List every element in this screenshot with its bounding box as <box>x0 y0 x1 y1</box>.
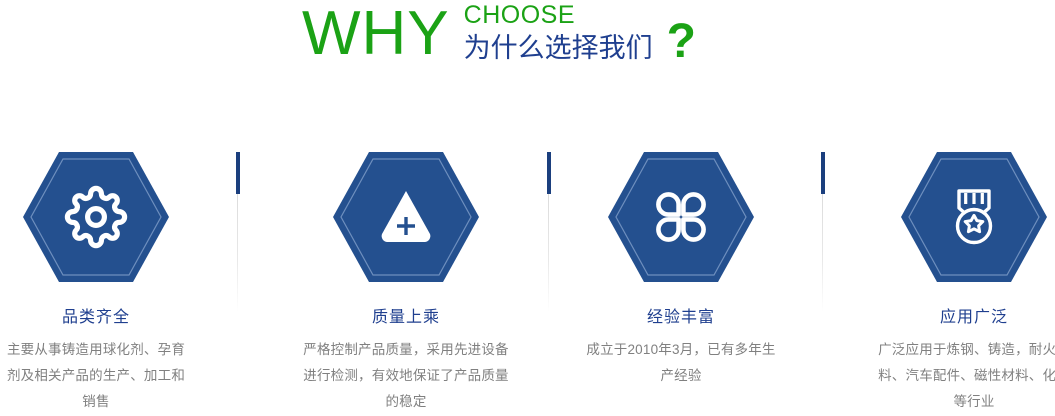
feature-title: 质量上乘 <box>310 308 502 328</box>
triangle-plus-icon <box>332 150 480 284</box>
feature-description: 严格控制产品质量，采用先进设备进行检测，有效地保证了产品质量的稳定 <box>303 337 509 415</box>
feature-title: 应用广泛 <box>878 308 1055 328</box>
heading-choose-text: CHOOSE <box>464 2 653 28</box>
feature-columns: 品类齐全 主要从事铸造用球化剂、孕育剂及相关产品的生产、加工和销售 <box>0 150 1055 416</box>
gear-icon <box>22 150 170 284</box>
feature-column: 经验丰富 成立于2010年3月，已有多年生产经验 <box>585 150 777 389</box>
feature-description: 主要从事铸造用球化剂、孕育剂及相关产品的生产、加工和销售 <box>3 337 189 415</box>
hexagon-badge <box>900 150 1048 284</box>
feature-column: 质量上乘 严格控制产品质量，采用先进设备进行检测，有效地保证了产品质量的稳定 <box>310 150 502 415</box>
heading-chinese-title: 为什么选择我们 <box>464 32 653 65</box>
hexagon-badge <box>22 150 170 284</box>
feature-title: 品类齐全 <box>0 308 192 328</box>
heading-why-text: WHY <box>302 0 450 68</box>
why-choose-us-section: WHY CHOOSE 为什么选择我们 ? <box>0 0 1055 416</box>
section-heading: WHY CHOOSE 为什么选择我们 ? <box>0 0 1055 90</box>
feature-description: 成立于2010年3月，已有多年生产经验 <box>581 337 781 389</box>
feature-title: 经验丰富 <box>585 308 777 328</box>
medal-star-icon <box>900 150 1048 284</box>
hexagon-badge <box>607 150 755 284</box>
four-petal-clover-icon <box>607 150 755 284</box>
feature-description: 广泛应用于炼钢、铸造，耐火材料、汽车配件、磁性材料、化工等行业 <box>872 337 1055 415</box>
question-mark-icon: ? <box>667 16 696 68</box>
hexagon-badge <box>332 150 480 284</box>
feature-column: 品类齐全 主要从事铸造用球化剂、孕育剂及相关产品的生产、加工和销售 <box>0 150 192 415</box>
feature-column: 应用广泛 广泛应用于炼钢、铸造，耐火材料、汽车配件、磁性材料、化工等行业 <box>878 150 1055 415</box>
